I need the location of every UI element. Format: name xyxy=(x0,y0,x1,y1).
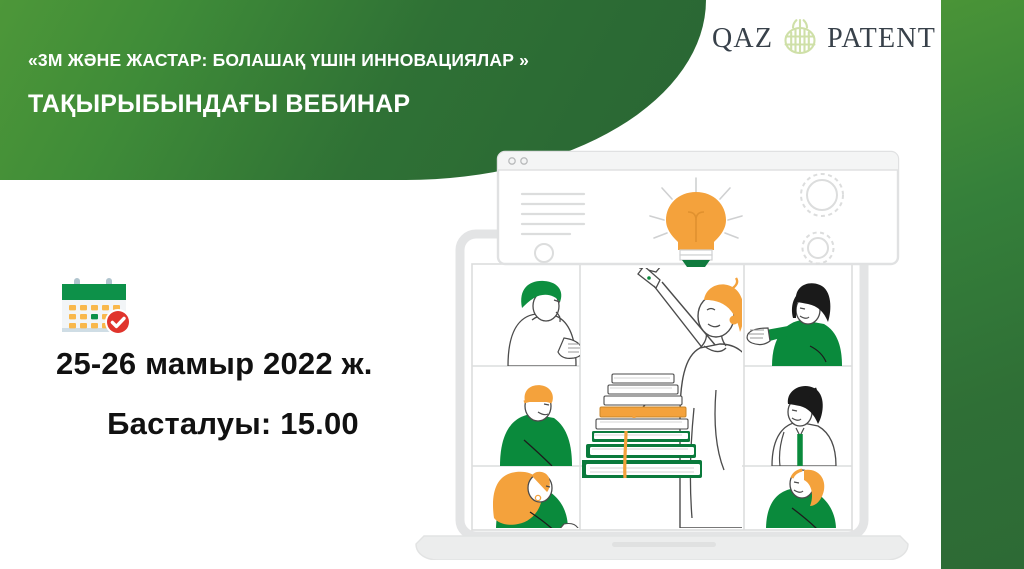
shanyrak-emblem-icon xyxy=(778,15,822,64)
idea-browser-window xyxy=(498,152,898,267)
event-date: 25-26 мамыр 2022 ж. xyxy=(56,346,436,382)
qazpatent-logo[interactable]: QAZ PATENT xyxy=(726,16,922,62)
right-green-rail xyxy=(941,0,1024,569)
title-line-1: «3M ЖӘНЕ ЖАСТАР: БОЛАШАҚ ҮШІН ИННОВАЦИЯЛ… xyxy=(28,50,668,70)
webinar-poster: «3M ЖӘНЕ ЖАСТАР: БОЛАШАҚ ҮШІН ИННОВАЦИЯЛ… xyxy=(0,0,1024,569)
title-line-2: ТАҚЫРЫБЫНДАҒЫ ВЕБИНАР xyxy=(28,90,668,119)
logo-word-patent: PATENT xyxy=(827,23,936,55)
title-block: «3M ЖӘНЕ ЖАСТАР: БОЛАШАҚ ҮШІН ИННОВАЦИЯЛ… xyxy=(28,50,668,119)
event-details-block: 25-26 мамыр 2022 ж. Басталуы: 15.00 xyxy=(56,276,436,442)
logo-word-qaz: QAZ xyxy=(712,23,773,55)
webinar-illustration xyxy=(404,140,944,560)
calendar-check-icon xyxy=(56,276,436,338)
event-time: Басталуы: 15.00 xyxy=(56,406,436,442)
